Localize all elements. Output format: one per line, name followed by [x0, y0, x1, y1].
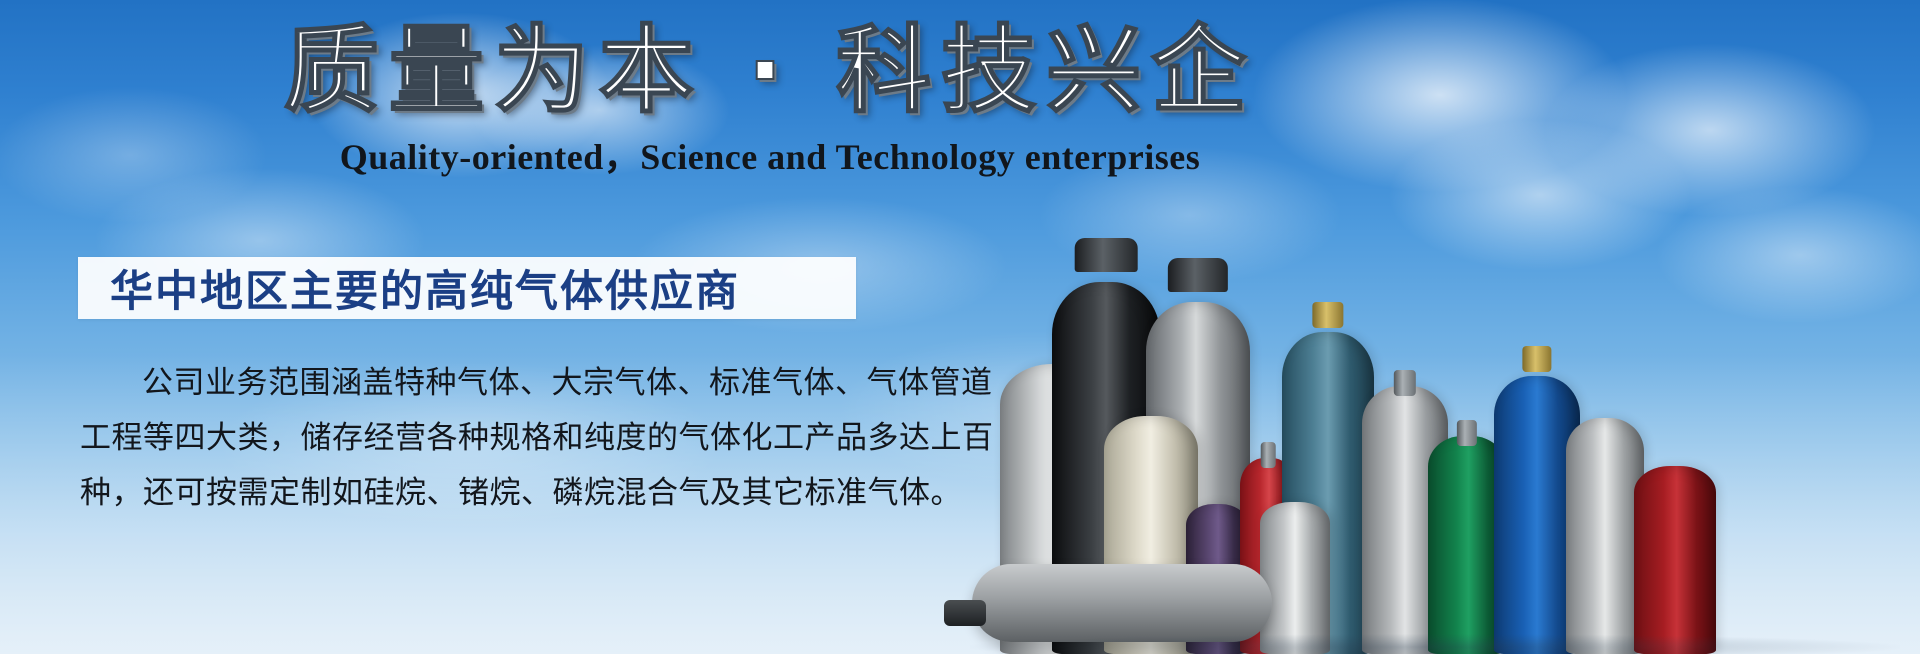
- aluminium-cylinder: [1260, 502, 1330, 654]
- callout-headline: 华中地区主要的高纯气体供应商: [78, 257, 740, 319]
- promo-banner: 质量为本 · 科技兴企 Quality-oriented，Science and…: [0, 0, 1920, 654]
- cylinder-valve: [1522, 346, 1551, 372]
- cylinder-cap: [1168, 258, 1228, 292]
- banner-main-title: 质量为本 · 科技兴企: [0, 18, 1540, 124]
- body-line: 公司业务范围涵盖特种气体、大宗气体、标准气体、气体管道: [80, 356, 870, 411]
- cylinder-neck: [1261, 442, 1276, 468]
- horizontal-grey-cylinder: [972, 564, 1272, 642]
- body-paragraph: 公司业务范围涵盖特种气体、大宗气体、标准气体、气体管道 工程等四大类，储存经营各…: [80, 356, 870, 521]
- cylinder-neck: [1457, 420, 1477, 446]
- gas-cylinder-photo: [930, 150, 1920, 654]
- aluminium-cylinder: [1566, 418, 1644, 654]
- horizontal-cylinder-valve: [944, 600, 986, 626]
- cylinder-cap: [1075, 238, 1138, 272]
- body-line: 种，还可按需定制如硅烷、锗烷、磷烷混合气及其它标准气体。: [80, 466, 870, 521]
- ground-shadow: [970, 634, 1900, 654]
- cylinder-neck: [1394, 370, 1416, 396]
- callout-box: 华中地区主要的高纯气体供应商: [78, 257, 856, 319]
- body-line: 工程等四大类，储存经营各种规格和纯度的气体化工产品多达上百: [80, 411, 870, 466]
- cylinder-valve: [1312, 302, 1343, 328]
- dark-red-cylinder: [1634, 466, 1716, 654]
